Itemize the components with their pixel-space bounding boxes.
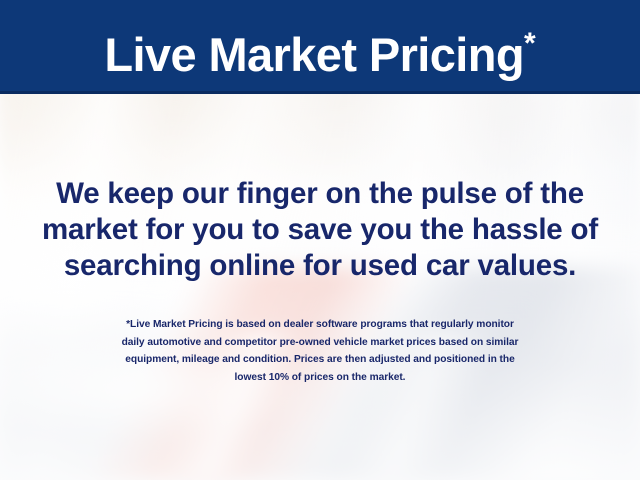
disclaimer-line-3: equipment, mileage and condition. Prices… <box>0 351 640 369</box>
disclaimer-line-2: daily automotive and competitor pre-owne… <box>0 334 640 352</box>
headline: We keep our finger on the pulse of the m… <box>0 176 640 284</box>
headline-line-3: searching online for used car values. <box>0 248 640 284</box>
page-title-asterisk: * <box>524 27 536 60</box>
headline-line-2: market for you to save you the hassle of <box>0 212 640 248</box>
disclaimer-line-4: lowest 10% of prices on the market. <box>0 369 640 387</box>
disclaimer: *Live Market Pricing is based on dealer … <box>0 316 640 386</box>
disclaimer-line-1: *Live Market Pricing is based on dealer … <box>0 316 640 334</box>
page-title-text: Live Market Pricing <box>104 28 524 81</box>
headline-line-1: We keep our finger on the pulse of the <box>0 176 640 212</box>
live-market-pricing-banner: Live Market Pricing* We keep our finger … <box>0 0 640 480</box>
page-title: Live Market Pricing* <box>0 14 640 85</box>
